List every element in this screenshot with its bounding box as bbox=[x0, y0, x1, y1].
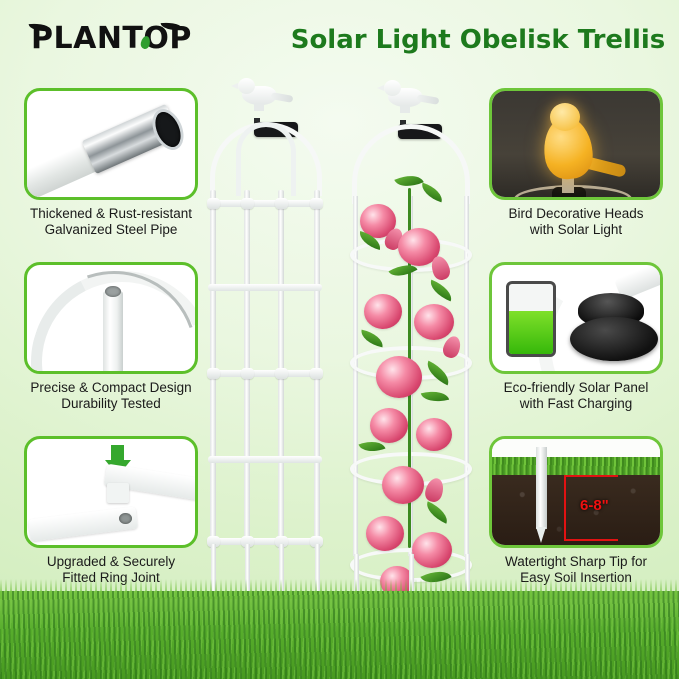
rose-flower bbox=[382, 466, 424, 504]
caption-line-1: Watertight Sharp Tip for bbox=[476, 554, 676, 570]
feature-caption-galvanized-steel-pipe: Thickened & Rust-resistant Galvanized St… bbox=[11, 206, 211, 238]
feature-caption-precise-compact-design: Precise & Compact Design Durability Test… bbox=[11, 380, 211, 412]
feature-card-precise-compact-design bbox=[24, 262, 198, 374]
caption-line-2: with Fast Charging bbox=[476, 396, 676, 412]
soil-cross-section-icon: 6-8" bbox=[492, 439, 660, 545]
caption-line-2: Galvanized Steel Pipe bbox=[11, 222, 211, 238]
caption-line-1: Thickened & Rust-resistant bbox=[11, 206, 211, 222]
grass-ground bbox=[0, 591, 679, 679]
trellis-joint bbox=[241, 198, 254, 209]
rose-flower bbox=[412, 532, 452, 568]
leaf-icon bbox=[359, 330, 385, 348]
bird-topper-icon bbox=[234, 78, 290, 112]
rose-flower bbox=[376, 356, 422, 398]
curved-tube-joint-icon bbox=[27, 265, 195, 371]
rose-flower bbox=[414, 304, 454, 340]
trellis-rung bbox=[208, 200, 322, 207]
steel-pipe-icon bbox=[27, 91, 195, 197]
feature-card-solar-panel bbox=[489, 262, 663, 374]
feature-card-galvanized-steel-pipe bbox=[24, 88, 198, 200]
product-image-trellis-with-roses bbox=[336, 78, 486, 623]
rose-flower bbox=[416, 418, 452, 451]
feature-caption-solar-panel: Eco-friendly Solar Panel with Fast Charg… bbox=[476, 380, 676, 412]
leaf-icon bbox=[427, 280, 456, 302]
trellis-rung bbox=[208, 370, 322, 377]
leaf-icon bbox=[421, 387, 449, 406]
caption-line-1: Precise & Compact Design bbox=[11, 380, 211, 396]
depth-measure-label: 6-8" bbox=[580, 497, 609, 514]
page-title: Solar Light Obelisk Trellis bbox=[288, 20, 668, 60]
trellis-rung bbox=[208, 284, 322, 291]
bird-topper-icon bbox=[380, 80, 436, 114]
trellis-joint bbox=[207, 198, 220, 209]
trellis-rung bbox=[208, 456, 322, 463]
rose-flower bbox=[370, 408, 408, 443]
product-image-trellis-plain bbox=[196, 78, 336, 623]
trellis-joint bbox=[241, 368, 254, 379]
brand-name: PLANTOP bbox=[31, 20, 192, 58]
caption-line-2: with Solar Light bbox=[476, 222, 676, 238]
trellis-joint bbox=[207, 368, 220, 379]
rose-flower bbox=[364, 294, 402, 329]
feature-card-sharp-tip: 6-8" bbox=[489, 436, 663, 548]
caption-line-1: Upgraded & Securely bbox=[11, 554, 211, 570]
battery-icon bbox=[506, 281, 556, 357]
feature-caption-bird-decorative-heads: Bird Decorative Heads with Solar Light bbox=[476, 206, 676, 238]
feature-card-ring-joint bbox=[24, 436, 198, 548]
trellis-joint bbox=[310, 198, 323, 209]
caption-line-1: Bird Decorative Heads bbox=[476, 206, 676, 222]
trellis-rung bbox=[208, 538, 322, 545]
trellis-joint bbox=[275, 198, 288, 209]
caption-line-1: Eco-friendly Solar Panel bbox=[476, 380, 676, 396]
caption-line-2: Durability Tested bbox=[11, 396, 211, 412]
trellis-dome bbox=[352, 124, 470, 204]
trellis-dome-inner bbox=[236, 122, 296, 196]
leaf-icon bbox=[422, 501, 451, 523]
trellis-joint bbox=[310, 368, 323, 379]
feature-card-bird-decorative-heads bbox=[489, 88, 663, 200]
brand-logo: PLANTOP bbox=[25, 20, 200, 58]
rose-flower bbox=[366, 516, 404, 551]
trellis-joint bbox=[275, 368, 288, 379]
ring-joint-assembly-icon bbox=[27, 439, 195, 545]
lit-bird-icon bbox=[492, 91, 660, 197]
solar-panel-battery-icon bbox=[492, 265, 660, 371]
